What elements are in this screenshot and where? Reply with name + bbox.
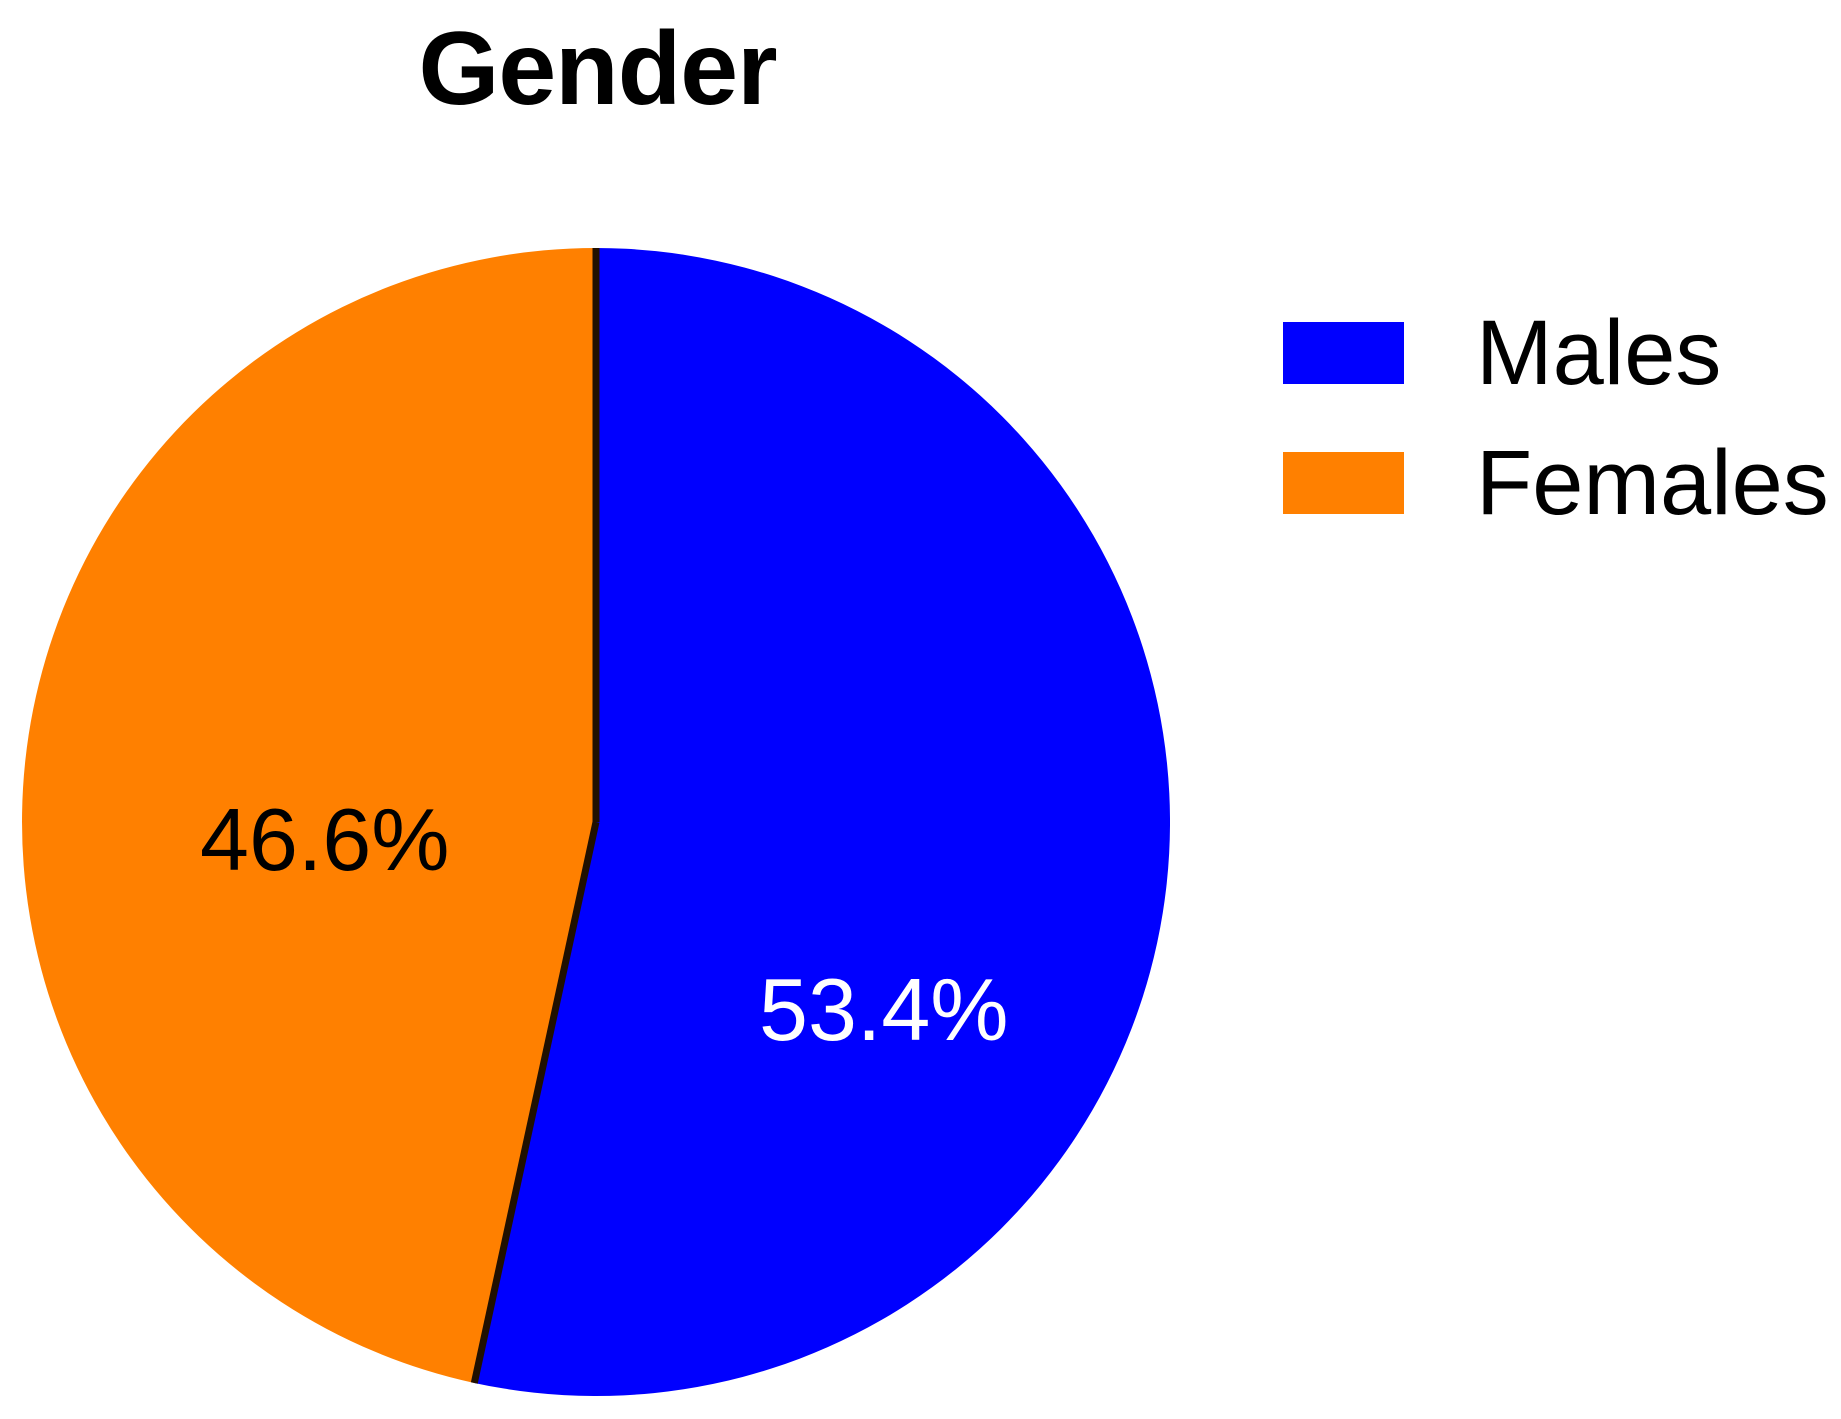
slice-label-males: 53.4% bbox=[759, 966, 1009, 1054]
legend-swatch-females bbox=[1283, 452, 1404, 514]
legend-label-males: Males bbox=[1476, 307, 1721, 399]
pie-chart-figure: Gender 46.6% 53.4% Males Females bbox=[0, 0, 1841, 1419]
legend-swatch-males bbox=[1283, 322, 1404, 384]
legend-label-females: Females bbox=[1476, 437, 1829, 529]
pie-svg bbox=[22, 248, 1170, 1396]
pie-chart-area: 46.6% 53.4% bbox=[22, 248, 1170, 1396]
slice-label-females: 46.6% bbox=[200, 796, 450, 884]
legend-item-females[interactable]: Females bbox=[1283, 418, 1823, 548]
chart-title: Gender bbox=[0, 12, 1195, 126]
legend-item-males[interactable]: Males bbox=[1283, 288, 1823, 418]
legend: Males Females bbox=[1283, 288, 1823, 548]
